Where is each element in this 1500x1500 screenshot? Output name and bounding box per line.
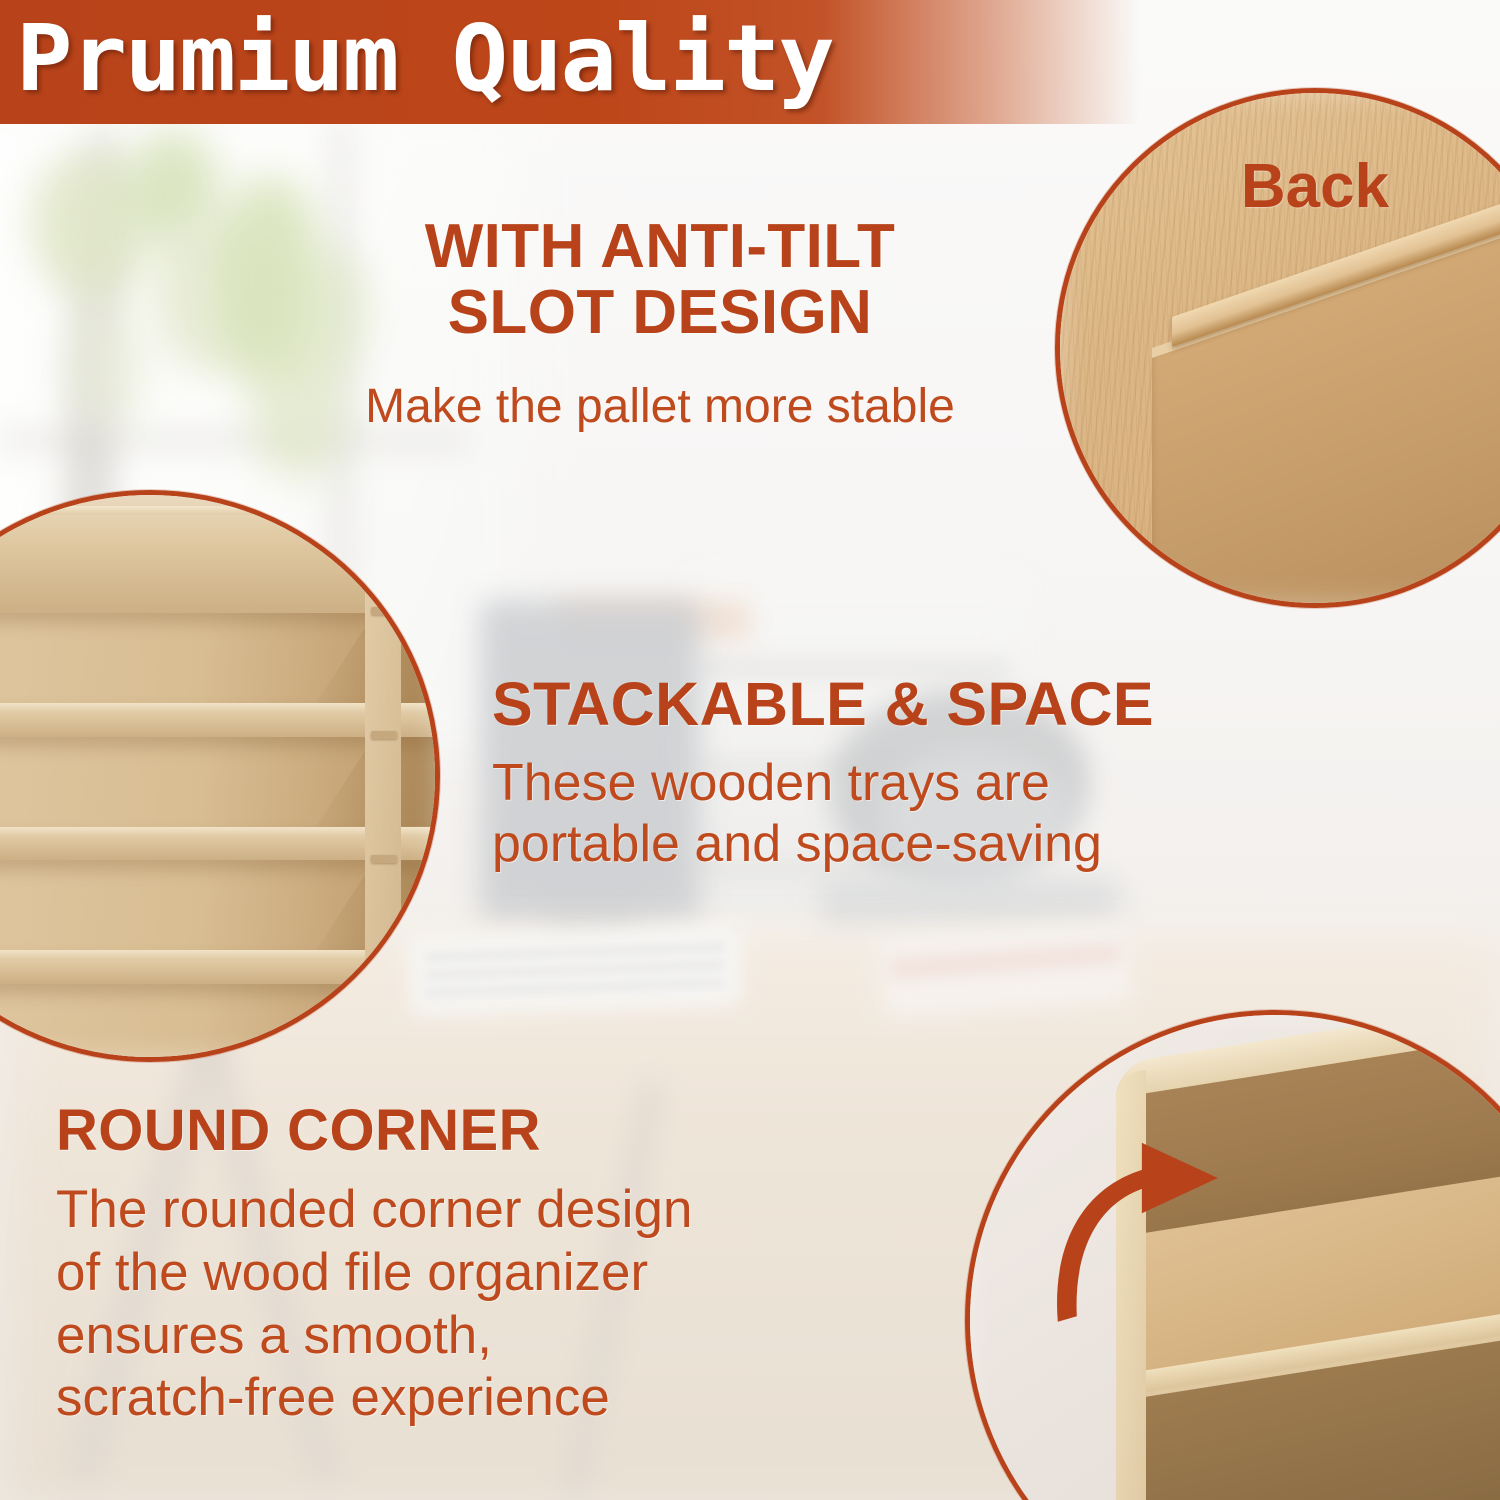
feature-subtext-line1: The rounded corner design [56, 1179, 936, 1242]
tray-slot-notch [371, 731, 397, 739]
feature-heading-line1: ROUND CORNER [56, 1100, 936, 1161]
tray-side-post [365, 495, 401, 1057]
callout-circle-round-corner [965, 1010, 1500, 1500]
callout-circle-stacked-trays [0, 490, 440, 1062]
tray-slot-notch [371, 607, 397, 615]
feature-heading-line1: WITH ANTI-TILT [330, 214, 990, 280]
feature-subtext: Make the pallet more stable [330, 379, 990, 436]
feature-subtext-line4: scratch-free experience [56, 1367, 936, 1430]
curved-arrow-icon [1007, 1094, 1288, 1338]
round-corner-image [970, 1015, 1500, 1500]
banner-title: Prumium Quality [16, 6, 833, 112]
stacked-trays-image [0, 495, 435, 1057]
feature-subtext-line2: portable and space-saving [492, 814, 1332, 875]
feature-subtext-line2: of the wood file organizer [56, 1242, 936, 1305]
tray-slot-notch [371, 978, 397, 986]
feature-heading-line1: STACKABLE & SPACE [492, 672, 1332, 737]
feature-subtext-line3: ensures a smooth, [56, 1305, 936, 1368]
tray-slot-notch [371, 855, 397, 863]
feature-subtext-line1: These wooden trays are [492, 753, 1332, 814]
feature-block-anti-tilt: WITH ANTI-TILT SLOT DESIGN Make the pall… [330, 214, 990, 436]
feature-block-round-corner: ROUND CORNER The rounded corner design o… [56, 1100, 936, 1430]
callout-circle-back: Back [1055, 88, 1500, 608]
header-banner: Prumium Quality [0, 0, 1140, 124]
feature-heading-line2: SLOT DESIGN [330, 280, 990, 346]
back-label: Back [1060, 151, 1500, 222]
feature-block-stackable: STACKABLE & SPACE These wooden trays are… [492, 672, 1332, 875]
